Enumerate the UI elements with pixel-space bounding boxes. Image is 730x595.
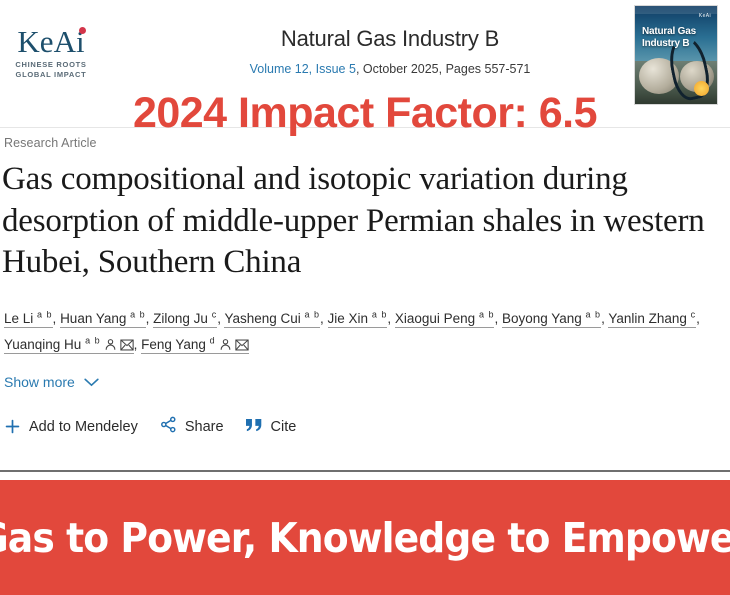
- keai-tagline-line-2: GLOBAL IMPACT: [12, 70, 90, 80]
- author-yasheng-cui[interactable]: Yasheng Cui a b: [224, 311, 320, 328]
- share-label: Share: [185, 419, 224, 435]
- author-email-icon[interactable]: [235, 334, 249, 360]
- affiliation-marker: a b: [479, 309, 495, 319]
- cite-button[interactable]: Cite: [246, 418, 297, 436]
- author-list: Le Li a b, Huan Yang a b, Zilong Ju c, Y…: [0, 306, 718, 361]
- keai-tagline-line-1: CHINESE ROOTS: [12, 60, 90, 70]
- corresponding-author-icon[interactable]: [219, 334, 232, 360]
- cite-label: Cite: [271, 419, 297, 435]
- keai-wordmark-label: KeAi: [17, 24, 84, 59]
- journal-cover-thumbnail[interactable]: KeAi Natural Gas Industry B: [634, 5, 718, 105]
- affiliation-marker: a b: [130, 309, 146, 319]
- cover-brand-label: KeAi: [699, 13, 711, 19]
- add-to-mendeley-button[interactable]: Add to Mendeley: [4, 418, 138, 435]
- promo-banner-text: Gas to Power, Knowledge to Empower: [0, 514, 730, 562]
- share-button[interactable]: Share: [160, 416, 224, 437]
- author-jie-xin[interactable]: Jie Xin a b: [328, 311, 388, 328]
- article-type-label: Research Article: [0, 136, 718, 150]
- add-to-mendeley-label: Add to Mendeley: [29, 419, 138, 435]
- author-boyong-yang[interactable]: Boyong Yang a b: [502, 311, 601, 328]
- keai-tagline: CHINESE ROOTS GLOBAL IMPACT: [12, 60, 90, 80]
- article-header-block: Research Article Gas compositional and i…: [0, 136, 718, 437]
- affiliation-marker: a b: [372, 309, 388, 319]
- share-icon: [160, 416, 177, 437]
- show-more-label: Show more: [4, 374, 75, 390]
- affiliation-marker: d: [210, 336, 216, 346]
- journal-info: Natural Gas Industry B Volume 12, Issue …: [160, 26, 620, 76]
- author-feng-yang[interactable]: Feng Yang d: [141, 337, 249, 354]
- impact-factor-banner: 2024 Impact Factor: 6.5: [0, 92, 730, 135]
- author-huan-yang[interactable]: Huan Yang a b: [60, 311, 146, 328]
- plus-icon: [4, 418, 21, 435]
- author-separator: ,: [387, 311, 395, 326]
- author-xiaogui-peng[interactable]: Xiaogui Peng a b: [395, 311, 495, 328]
- affiliation-marker: a b: [37, 309, 53, 319]
- author-separator: ,: [494, 311, 502, 326]
- quote-icon: [246, 418, 263, 436]
- author-zilong-ju[interactable]: Zilong Ju c: [153, 311, 217, 328]
- journal-issue-meta: Volume 12, Issue 5, October 2025, Pages …: [160, 62, 620, 76]
- keai-wordmark-text: KeAi: [17, 26, 84, 57]
- cover-title-label: Natural Gas Industry B: [642, 26, 712, 49]
- author-separator: ,: [320, 311, 328, 326]
- volume-issue-link[interactable]: Volume 12, Issue 5: [250, 62, 356, 76]
- author-separator: ,: [134, 337, 142, 352]
- page-title: Gas compositional and isotopic variation…: [0, 159, 718, 284]
- keai-logo-dot-icon: [79, 27, 86, 34]
- article-actions: Add to Mendeley Share Cite: [0, 416, 718, 437]
- author-separator: ,: [696, 311, 700, 326]
- author-yanlin-zhang[interactable]: Yanlin Zhang c: [608, 311, 696, 328]
- journal-title[interactable]: Natural Gas Industry B: [160, 26, 620, 52]
- author-email-icon[interactable]: [120, 334, 134, 360]
- affiliation-marker: a b: [586, 309, 602, 319]
- promotional-banner[interactable]: Gas to Power, Knowledge to Empower: [0, 480, 730, 595]
- affiliation-marker: a b: [85, 336, 101, 346]
- show-more-authors-button[interactable]: Show more: [0, 374, 99, 390]
- chevron-down-icon: [84, 374, 99, 390]
- author-separator: ,: [53, 311, 61, 326]
- keai-publisher-logo[interactable]: KeAi CHINESE ROOTS GLOBAL IMPACT: [12, 26, 90, 80]
- author-yuanqing-hu[interactable]: Yuanqing Hu a b: [4, 337, 134, 354]
- author-le-li[interactable]: Le Li a b: [4, 311, 53, 328]
- journal-meta-rest: , October 2025, Pages 557-571: [356, 62, 530, 76]
- affiliation-marker: a b: [305, 309, 321, 319]
- corresponding-author-icon[interactable]: [104, 334, 117, 360]
- footer-divider: [0, 470, 730, 472]
